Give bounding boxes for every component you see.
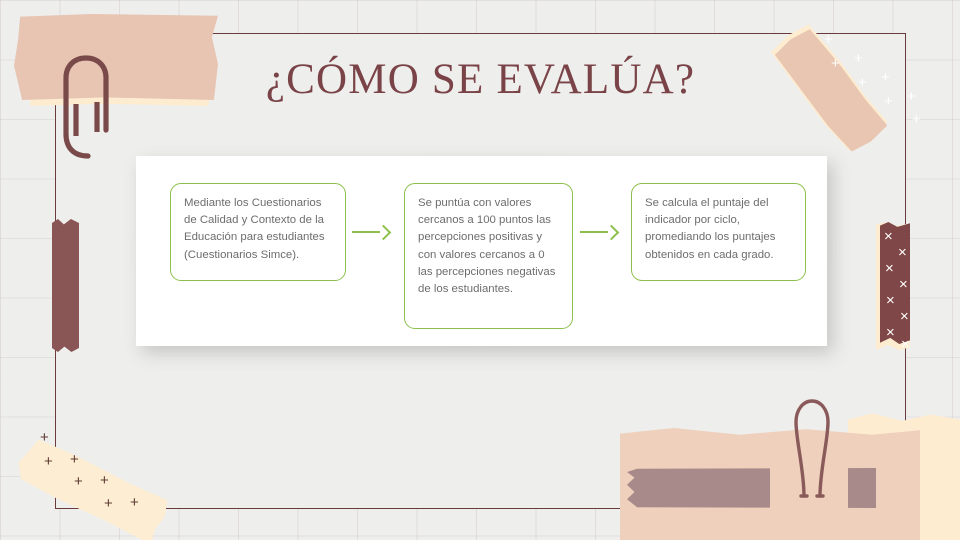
- slide-canvas: ¿CÓMO SE EVALÚA? Mediante los Cuestionar…: [0, 0, 960, 540]
- washi-tape-edge: [620, 522, 920, 540]
- plus-mark: +: [884, 94, 893, 109]
- flow-step-1: Mediante los Cuestionarios de Calidad y …: [170, 183, 346, 281]
- plus-mark: +: [104, 496, 113, 511]
- plus-mark: +: [100, 473, 109, 488]
- plus-mark: +: [912, 112, 921, 127]
- plus-mark: +: [907, 89, 916, 104]
- plus-mark: +: [130, 495, 139, 510]
- plus-mark: +: [858, 75, 867, 90]
- cross-mark: ×: [886, 293, 895, 308]
- cross-mark: ×: [884, 229, 893, 244]
- cross-mark: ×: [899, 277, 908, 292]
- arrow-right-icon: [352, 225, 390, 239]
- cross-mark: ×: [900, 309, 909, 324]
- plus-mark: +: [74, 474, 83, 489]
- arrow-right-icon: [580, 225, 618, 239]
- cross-mark: ×: [885, 261, 894, 276]
- flow-step-2: Se puntúa con valores cercanos a 100 pun…: [404, 183, 573, 329]
- plus-mark: +: [824, 32, 833, 47]
- paperclip-icon: [60, 52, 116, 162]
- plus-mark: +: [40, 430, 49, 445]
- cross-mark: ×: [901, 337, 910, 352]
- plus-mark: +: [854, 51, 863, 66]
- cross-mark: ×: [886, 325, 895, 340]
- cross-mark: ×: [898, 245, 907, 260]
- flowchart: Mediante los Cuestionarios de Calidad y …: [136, 156, 827, 346]
- washi-tape-icon: [14, 14, 218, 100]
- binder-clip-icon: [784, 396, 840, 502]
- plus-mark: +: [44, 454, 53, 469]
- washi-tape-icon: [52, 219, 79, 352]
- arrow-head: [604, 225, 620, 241]
- flowchart-panel: Mediante los Cuestionarios de Calidad y …: [136, 156, 827, 346]
- flow-step-3: Se calcula el puntaje del indicador por …: [631, 183, 806, 281]
- plus-mark: +: [70, 452, 79, 467]
- arrow-head: [376, 225, 392, 241]
- plus-mark: +: [831, 56, 840, 71]
- plus-mark: +: [881, 70, 890, 85]
